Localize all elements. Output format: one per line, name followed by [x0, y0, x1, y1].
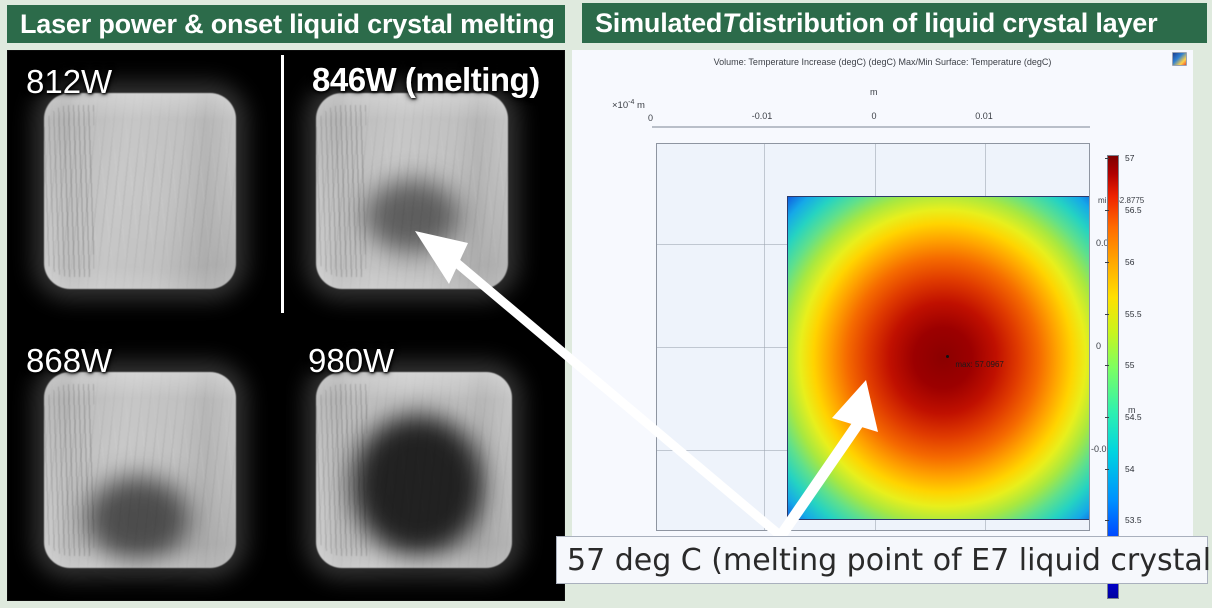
left-panel-title-banner: Laser power & onset liquid crystal melti… — [7, 5, 565, 43]
y-tick-1: 0 — [1096, 341, 1101, 351]
colorbar-tickmark — [1105, 417, 1109, 418]
colorbar-tick-4: 55 — [1125, 360, 1134, 370]
photo-cell-868w: 868W — [8, 334, 280, 601]
colorbar-tickmark — [1105, 210, 1109, 211]
callout-text: 57 deg C (melting point of E7 liquid cry… — [567, 543, 1212, 578]
colorbar-tickmark — [1105, 314, 1109, 315]
x-tick-0: -0.01 — [752, 111, 773, 121]
plot-title: Volume: Temperature Increase (degC) (deg… — [572, 57, 1193, 67]
comsol-icon[interactable] — [1172, 52, 1187, 66]
photo-grid-divider — [281, 55, 284, 313]
sample-square-846w — [316, 93, 508, 289]
y-exponent-tick: 0 — [648, 113, 653, 123]
colorbar-tickmark — [1105, 158, 1109, 159]
sample-bright-edge — [316, 93, 508, 289]
min-annotation: min: 52.8775 — [1098, 196, 1144, 205]
sample-bright-edge — [316, 372, 512, 568]
colorbar-tick-0: 57 — [1125, 153, 1134, 163]
colorbar-tick-7: 53.5 — [1125, 515, 1142, 525]
top-axis-line — [652, 126, 1090, 128]
sample-square-812w — [44, 93, 236, 289]
sample-bright-edge — [44, 372, 236, 568]
melting-point-callout: 57 deg C (melting point of E7 liquid cry… — [556, 536, 1208, 584]
y-exponent-base: ×10 — [612, 100, 628, 111]
gridline-vertical — [764, 144, 765, 530]
x-tick-1: 0 — [871, 111, 876, 121]
photo-cell-846w: 846W (melting) — [286, 51, 565, 328]
y-exponent-power: -4 — [628, 99, 634, 106]
colorbar-tickmark — [1105, 469, 1109, 470]
colorbar-tickmark — [1105, 520, 1109, 521]
y-exponent-label: ×10-4 m — [612, 99, 645, 111]
colorbar-tick-5: 54.5 — [1125, 412, 1142, 422]
right-banner-text-italic: T — [722, 8, 738, 39]
x-tick-2: 0.01 — [975, 111, 993, 121]
sample-bright-edge — [44, 93, 236, 289]
plot-area[interactable]: max: 57.0967 — [656, 143, 1090, 531]
right-banner-text-post: distribution of liquid crystal layer — [739, 8, 1158, 39]
left-banner-text: Laser power & onset liquid crystal melti… — [20, 9, 555, 40]
photo-cell-980w: 980W — [286, 334, 565, 601]
ir-photo-grid: 812W 846W (melting) 868W — [7, 50, 565, 601]
colorbar-tick-1: 56.5 — [1125, 205, 1142, 215]
colorbar-tick-6: 54 — [1125, 464, 1134, 474]
colorbar-tick-3: 55.5 — [1125, 309, 1142, 319]
comsol-simulation-panel: Volume: Temperature Increase (degC) (deg… — [572, 50, 1193, 552]
right-panel-title-banner: Simulated T distribution of liquid cryst… — [582, 3, 1207, 43]
photo-cell-812w: 812W — [8, 51, 280, 328]
temperature-colorbar — [1107, 155, 1119, 599]
temperature-heatmap: max: 57.0967 — [787, 196, 1090, 520]
x-axis-unit-label: m — [870, 87, 878, 97]
max-annotation: max: 57.0967 — [955, 360, 1003, 369]
colorbar-tickmark — [1105, 365, 1109, 366]
figure-root: Laser power & onset liquid crystal melti… — [0, 0, 1212, 608]
right-banner-text-pre: Simulated — [595, 8, 722, 39]
max-point-marker — [946, 355, 949, 358]
colorbar-tickmark — [1105, 262, 1109, 263]
y-exponent-unit: m — [637, 100, 645, 111]
colorbar-tick-2: 56 — [1125, 257, 1134, 267]
sample-square-868w — [44, 372, 236, 568]
sample-square-980w — [316, 372, 512, 568]
